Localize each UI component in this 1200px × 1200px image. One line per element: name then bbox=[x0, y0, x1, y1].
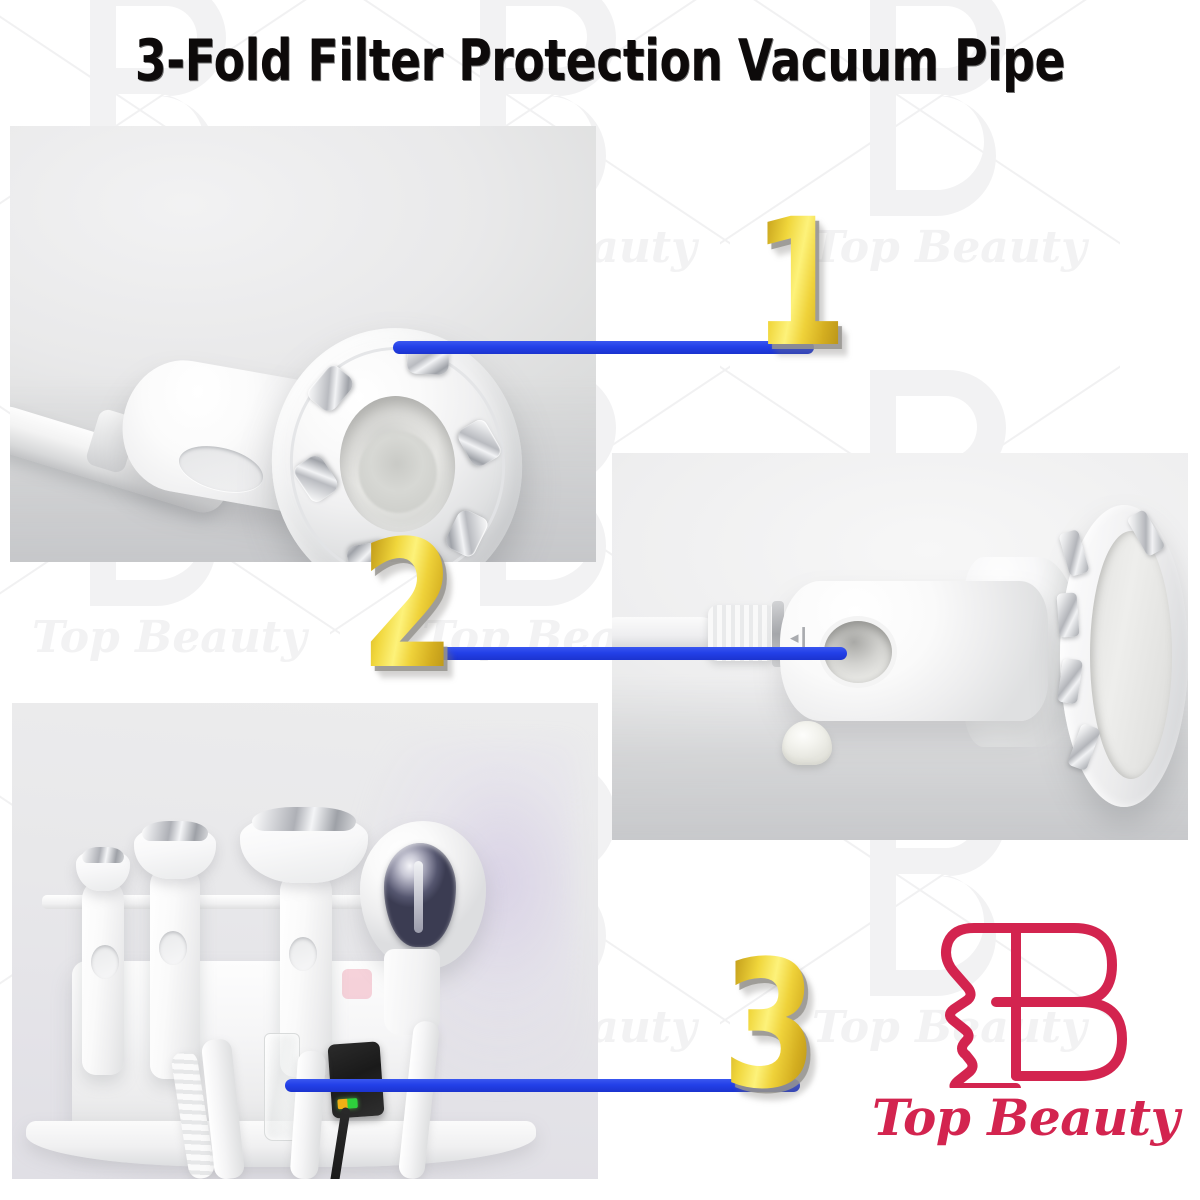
callout-number-3: 3 bbox=[722, 938, 818, 1114]
handpiece-grip-dimple bbox=[159, 931, 187, 965]
handpiece-in-rack bbox=[150, 865, 200, 1079]
handpiece-grip-dimple bbox=[91, 945, 119, 979]
brand-wordmark: Top Beauty bbox=[872, 1090, 1172, 1146]
vacuum-head-inner-ring bbox=[1090, 531, 1172, 779]
callout-number-2: 2 bbox=[360, 518, 456, 694]
handpiece-grip-dimple bbox=[289, 937, 317, 971]
chrome-electrode-ring bbox=[82, 847, 124, 863]
svg-text:Top Beauty: Top Beauty bbox=[812, 222, 1090, 273]
svg-text:Top Beauty: Top Beauty bbox=[32, 612, 310, 663]
callout-pointer-line-1 bbox=[393, 341, 814, 354]
brand-logo: Top Beauty bbox=[872, 916, 1172, 1164]
lock-arrow-icon: ◂┃ bbox=[790, 629, 820, 647]
b-face-profile-monogram-icon bbox=[904, 916, 1140, 1088]
product-image-canvas: Top Beauty Top Beauty Top Beauty Top Bea… bbox=[0, 0, 1200, 1200]
callout-number-1: 1 bbox=[752, 196, 848, 372]
chrome-electrode-ring bbox=[142, 821, 208, 841]
chrome-electrode-segment bbox=[1056, 592, 1079, 637]
product-photo-panel-3 bbox=[12, 703, 598, 1179]
chrome-electrode-ring bbox=[252, 807, 356, 831]
handpiece-cable bbox=[612, 617, 718, 651]
page-title: 3-Fold Filter Protection Vacuum Pipe bbox=[120, 28, 1080, 94]
cavitation-plate-slit bbox=[414, 861, 423, 933]
removable-filter-element bbox=[782, 721, 832, 765]
handpiece-in-rack bbox=[82, 879, 124, 1075]
machine-badge bbox=[342, 969, 372, 999]
